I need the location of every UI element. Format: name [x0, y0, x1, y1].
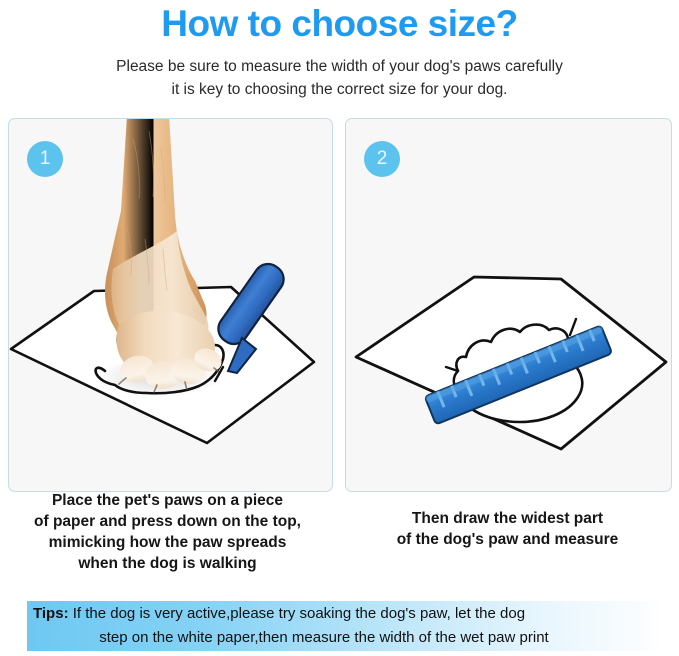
trace-paw-svg: [9, 119, 332, 491]
measure-paw-svg: [346, 119, 671, 491]
page-subtitle: Please be sure to measure the width of y…: [0, 55, 679, 101]
trace-paw-illustration: [9, 119, 332, 491]
caption-2-line-2: of the dog's paw and measure: [345, 529, 670, 550]
caption-1-line-4: when the dog is walking: [0, 553, 335, 574]
tips-line-2: step on the white paper,then measure the…: [27, 626, 659, 650]
tips-label: Tips:: [33, 605, 69, 622]
step-badge-1: 1: [27, 141, 63, 177]
caption-1-line-1: Place the pet's paws on a piece: [0, 490, 335, 511]
step-1-caption: Place the pet's paws on a piece of paper…: [0, 490, 335, 574]
step-2-panel: 2: [345, 118, 672, 492]
measure-paw-illustration: [346, 119, 671, 491]
subtitle-line-1: Please be sure to measure the width of y…: [0, 55, 679, 78]
page-title: How to choose size?: [0, 2, 679, 46]
subtitle-line-2: it is key to choosing the correct size f…: [0, 78, 679, 101]
caption-1-line-3: mimicking how the paw spreads: [0, 532, 335, 553]
caption-2-line-1: Then draw the widest part: [345, 508, 670, 529]
tips-line-1-text: If the dog is very active,please try soa…: [69, 605, 525, 622]
caption-1-line-2: of paper and press down on the top,: [0, 511, 335, 532]
step-badge-2: 2: [364, 141, 400, 177]
step-1-panel: 1: [8, 118, 333, 492]
tips-banner: Tips: If the dog is very active,please t…: [27, 601, 659, 651]
step-2-caption: Then draw the widest part of the dog's p…: [345, 508, 670, 550]
tips-line-1: Tips: If the dog is very active,please t…: [27, 602, 659, 626]
